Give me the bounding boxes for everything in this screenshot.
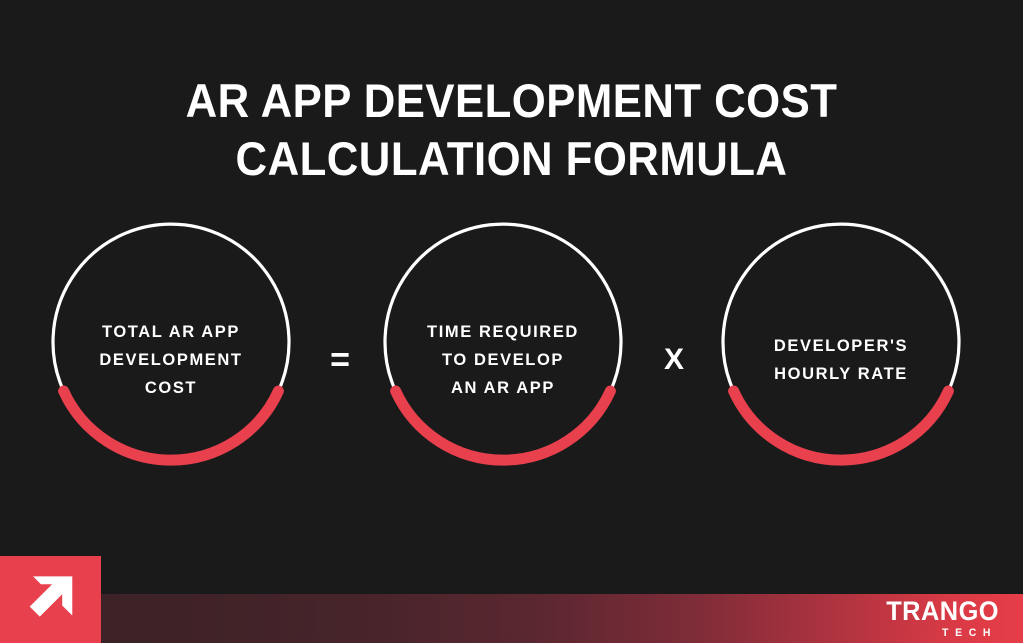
formula-term-time-required: TIME REQUIRED TO DEVELOP AN AR APP xyxy=(375,232,631,488)
page-title: AR APP DEVELOPMENT COST CALCULATION FORM… xyxy=(0,72,1023,188)
formula-term-total-cost: TOTAL AR APP DEVELOPMENT COST xyxy=(43,232,299,488)
formula-row: TOTAL AR APP DEVELOPMENT COST = TIME REQ… xyxy=(0,232,1023,494)
brand-name: TRANGO xyxy=(886,598,999,625)
footer-gradient-bar: TRANGO TECH xyxy=(0,594,1023,643)
brand-logo-tile xyxy=(0,556,101,643)
brand-suffix: TECH xyxy=(885,625,999,639)
operator-symbol: X xyxy=(664,345,684,375)
circle-arc-icon xyxy=(375,232,631,488)
brand-wordmark: TRANGO TECH xyxy=(879,598,999,639)
trango-arrow-logo-icon xyxy=(22,573,80,629)
circle-arc-icon xyxy=(43,232,299,488)
circle-arc-icon xyxy=(713,232,969,488)
infographic-canvas: AR APP DEVELOPMENT COST CALCULATION FORM… xyxy=(0,0,1023,643)
operator-equals: = xyxy=(312,232,368,488)
formula-term-hourly-rate: DEVELOPER'S HOURLY RATE xyxy=(713,232,969,488)
title-line-1: AR APP DEVELOPMENT COST xyxy=(36,72,987,130)
operator-symbol: = xyxy=(330,343,350,377)
operator-times: X xyxy=(646,232,702,488)
title-line-2: CALCULATION FORMULA xyxy=(36,130,987,188)
